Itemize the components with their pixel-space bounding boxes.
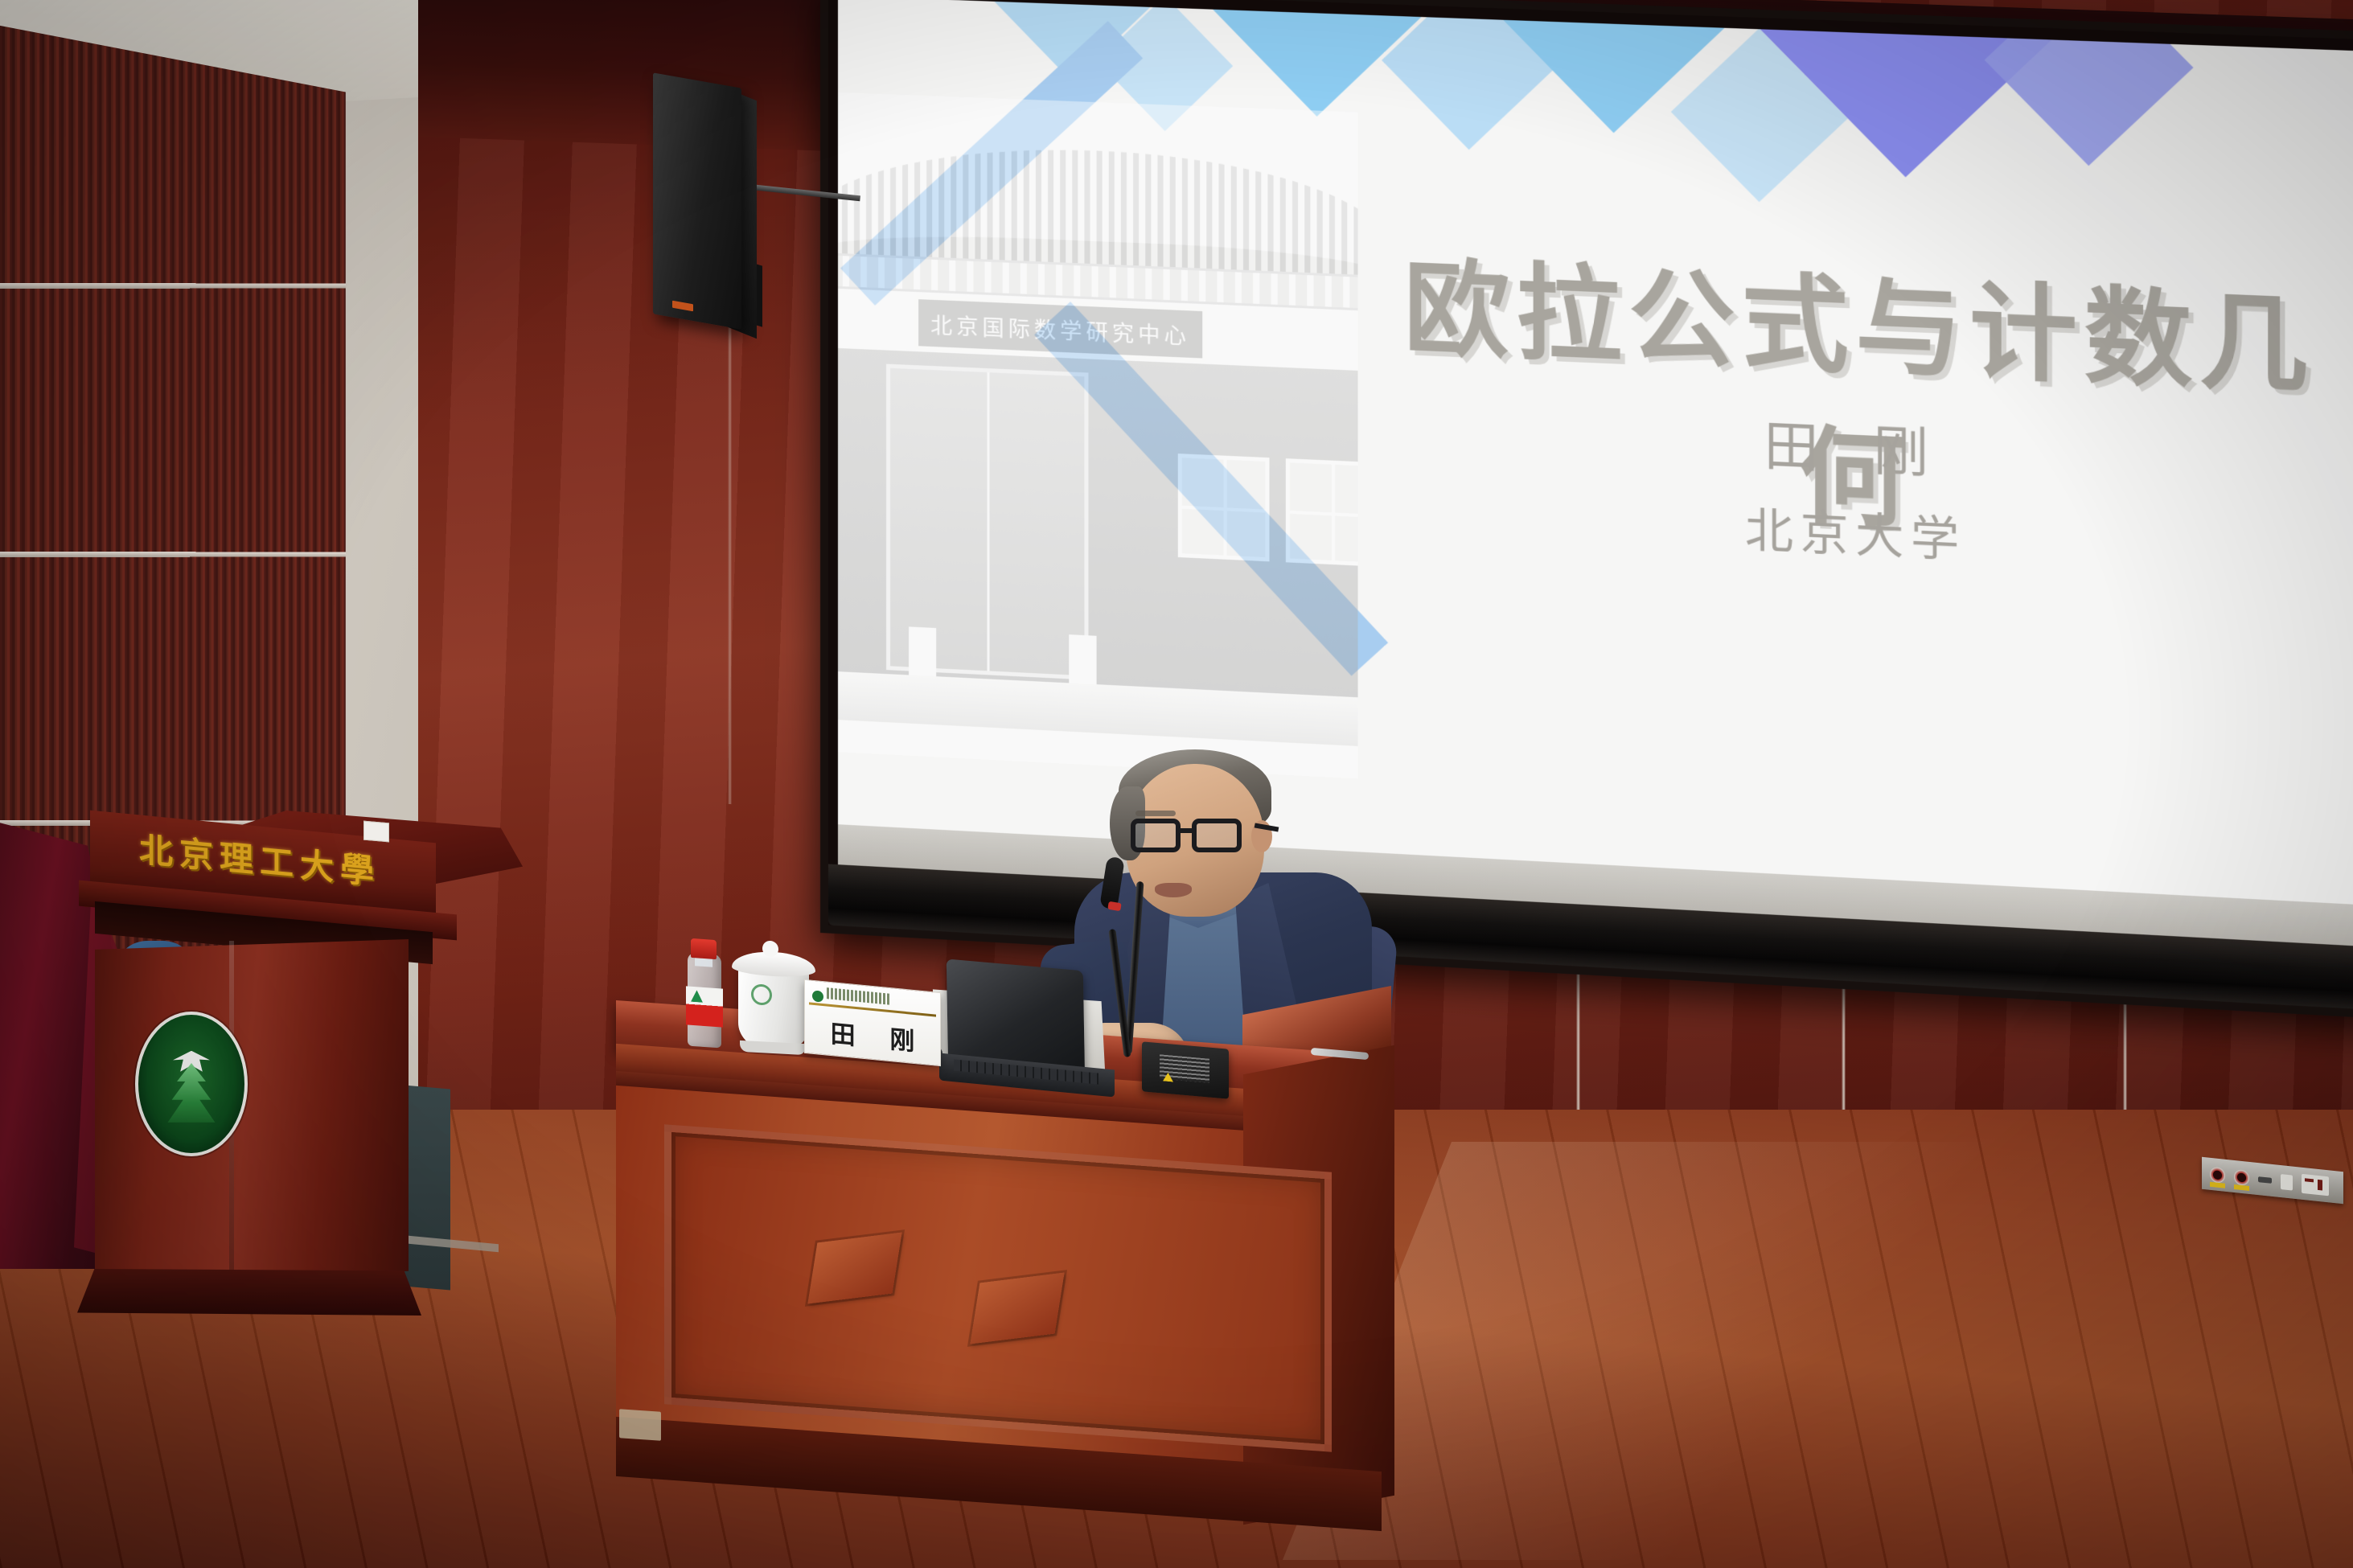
desk-scuff-mark xyxy=(619,1409,661,1441)
glasses-bridge xyxy=(1181,828,1195,833)
power-outlet-icon[interactable] xyxy=(2302,1174,2329,1197)
presentation-slide: 北京国际数学研究中心 欧拉公式与计数几何 田 刚 北京大学 xyxy=(838,0,2353,910)
xlr-jack-icon[interactable] xyxy=(2210,1166,2225,1183)
photo-window xyxy=(1286,458,1358,567)
speaker-eyebrow xyxy=(1135,811,1176,816)
nameplate-name-text: 田 刚 xyxy=(818,1012,928,1058)
jack-label xyxy=(2210,1182,2225,1188)
network-jack-icon[interactable] xyxy=(2281,1174,2293,1191)
tea-cup-logo xyxy=(751,983,772,1005)
glasses-lens-left xyxy=(1131,819,1181,852)
nameplate-logo-icon xyxy=(812,990,823,1002)
desk-diamond-carving xyxy=(970,1273,1064,1344)
photo-window xyxy=(1178,454,1270,561)
glasses-lens-right xyxy=(1192,819,1242,852)
bottle-cap[interactable] xyxy=(691,938,717,959)
podium-base xyxy=(77,1269,421,1316)
projection-screen: 北京国际数学研究中心 欧拉公式与计数几何 田 刚 北京大学 xyxy=(820,0,2353,1020)
building-photo: 北京国际数学研究中心 xyxy=(838,92,1358,779)
speaker-mouth xyxy=(1155,883,1192,897)
jack-label xyxy=(2234,1184,2249,1191)
podium-asset-tag xyxy=(363,821,389,843)
tea-cup-lid-knob[interactable] xyxy=(762,940,778,957)
acoustic-panel-seam xyxy=(0,552,346,557)
diamond-decoration-violet xyxy=(1985,0,2194,166)
acoustic-panel-seam xyxy=(0,283,346,289)
column-loudspeaker xyxy=(653,72,741,329)
blank-port xyxy=(2258,1176,2272,1184)
desk-diamond-carving xyxy=(807,1233,901,1304)
bottle-label xyxy=(686,986,723,1027)
screen-surface: 北京国际数学研究中心 欧拉公式与计数几何 田 刚 北京大学 xyxy=(838,0,2353,910)
lecture-hall-photo: 北京国际数学研究中心 欧拉公式与计数几何 田 刚 北京大学 xyxy=(0,0,2353,1568)
photo-plaque-text: 北京国际数学研究中心 xyxy=(930,307,1190,350)
xlr-jack-icon[interactable] xyxy=(2234,1168,2249,1185)
